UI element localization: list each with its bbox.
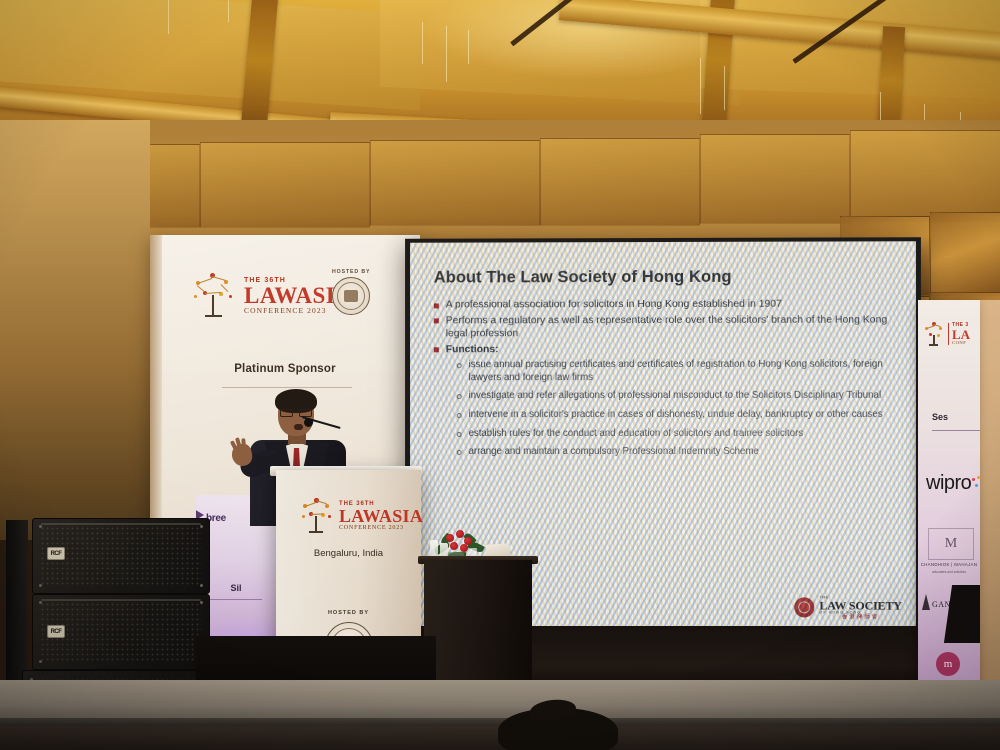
stage-floor — [0, 680, 1000, 722]
bullet-square-icon — [434, 303, 439, 308]
banner-shadow-block — [944, 585, 980, 643]
speaker-mouth — [294, 424, 303, 430]
chandhiok-mahajan-logo: M — [928, 528, 974, 560]
wipro-dots-icon — [972, 476, 980, 492]
slide-sub-bullet-list: issue annual practising certificates and… — [434, 359, 894, 459]
podium-hosted-by-label: HOSTED BY — [276, 610, 421, 616]
microphone-icon — [304, 418, 313, 427]
sponsor-caption: CHANDHIOK | MAHAJAN — [918, 562, 980, 567]
left-wall — [0, 120, 150, 540]
sponsor-subcaption: advocates and solicitors — [918, 570, 980, 574]
pa-speaker-cabinet: RCF — [32, 594, 210, 670]
platinum-sponsor-label: Platinum Sponsor — [150, 363, 420, 375]
right-banner-divider — [932, 430, 980, 431]
slide-sub-bullet-text: issue annual practising certificates and… — [469, 359, 894, 385]
slide-bullet-text: A professional association for solicitor… — [446, 298, 782, 312]
rcf-brand-badge: RCF — [47, 547, 65, 560]
slide-bullet: Performs a regulatory as well as represe… — [434, 313, 894, 340]
wipro-logo: wipro — [926, 472, 971, 495]
slide-sub-bullet-text: intervene in a solicitor's practice in c… — [469, 409, 883, 422]
lawasia-tree-icon — [194, 273, 234, 319]
bullet-circle-icon — [457, 450, 462, 455]
conference-photo-scene: THE 36TH LAWASIA CONFERENCE 2023 HOSTED … — [0, 0, 1000, 750]
law-society-seal-icon — [794, 598, 814, 618]
slide-bullet: A professional association for solicitor… — [434, 298, 894, 312]
slide-sub-bullet: investigate and refer allegations of pro… — [457, 390, 894, 403]
slide-sub-bullet-text: arrange and maintain a compulsory Profes… — [469, 446, 759, 459]
sponsor-monogram: M — [945, 536, 957, 552]
podium-city-label: Bengaluru, India — [276, 548, 421, 559]
slide-sub-bullet: arrange and maintain a compulsory Profes… — [457, 446, 894, 459]
bullet-circle-icon — [457, 363, 462, 368]
slide-sub-bullet: establish rules for the conduct and educ… — [457, 428, 894, 441]
right-banner-tier-label: Ses — [932, 412, 948, 422]
slide-bullet-text: Functions: — [446, 343, 499, 356]
bullet-circle-icon — [457, 413, 462, 418]
bullet-circle-icon — [457, 432, 462, 437]
podium-lawasia-name: LAWASIA — [339, 507, 423, 525]
slide-title: About The Law Society of Hong Kong — [434, 267, 894, 287]
right-sponsor-banner: THE 3 LA CONF Ses wipro M CHANDHIOK | MA… — [918, 300, 980, 695]
bullet-square-icon — [434, 319, 439, 324]
slide-bullet: Functions: — [434, 343, 894, 357]
slide-sub-bullet-text: investigate and refer allegations of pro… — [469, 390, 882, 403]
last-sponsor-logo-icon: m — [936, 652, 960, 676]
backdrop-divider — [222, 387, 352, 388]
bar-association-seal-icon — [332, 277, 370, 315]
sponsor-divider — [210, 599, 262, 600]
law-society-chinese-name: 香港律師會 — [819, 615, 901, 621]
slide-sub-bullet: issue annual practising certificates and… — [457, 359, 894, 385]
podium-lawasia-logo: THE 36TH LAWASIA CONFERENCE 2023 — [302, 498, 423, 534]
right-banner-name: LA — [952, 328, 970, 341]
pa-speaker-cabinet: RCF — [32, 518, 210, 594]
slide-bullet-text: Performs a regulatory as well as represe… — [446, 313, 894, 340]
slide-sub-bullet-text: establish rules for the conduct and educ… — [469, 428, 804, 441]
right-banner-lawasia-logo: THE 3 LA CONF — [924, 322, 970, 346]
rcf-brand-badge: RCF — [47, 625, 65, 638]
lawasia-tree-icon — [924, 322, 944, 346]
slide-sub-bullet: intervene in a solicitor's practice in c… — [457, 409, 894, 422]
lawasia-tree-icon — [302, 498, 332, 534]
gane-spire-icon — [922, 594, 930, 610]
backdrop-hosted-by: HOSTED BY — [332, 269, 370, 315]
law-society-logo: THE LAW SOCIETY OF HONG KONG 香港律師會 — [794, 595, 902, 620]
hosted-by-label: HOSTED BY — [332, 269, 370, 275]
speaker-glasses-icon — [280, 409, 312, 417]
bullet-square-icon — [434, 348, 439, 353]
bullet-circle-icon — [457, 395, 462, 400]
